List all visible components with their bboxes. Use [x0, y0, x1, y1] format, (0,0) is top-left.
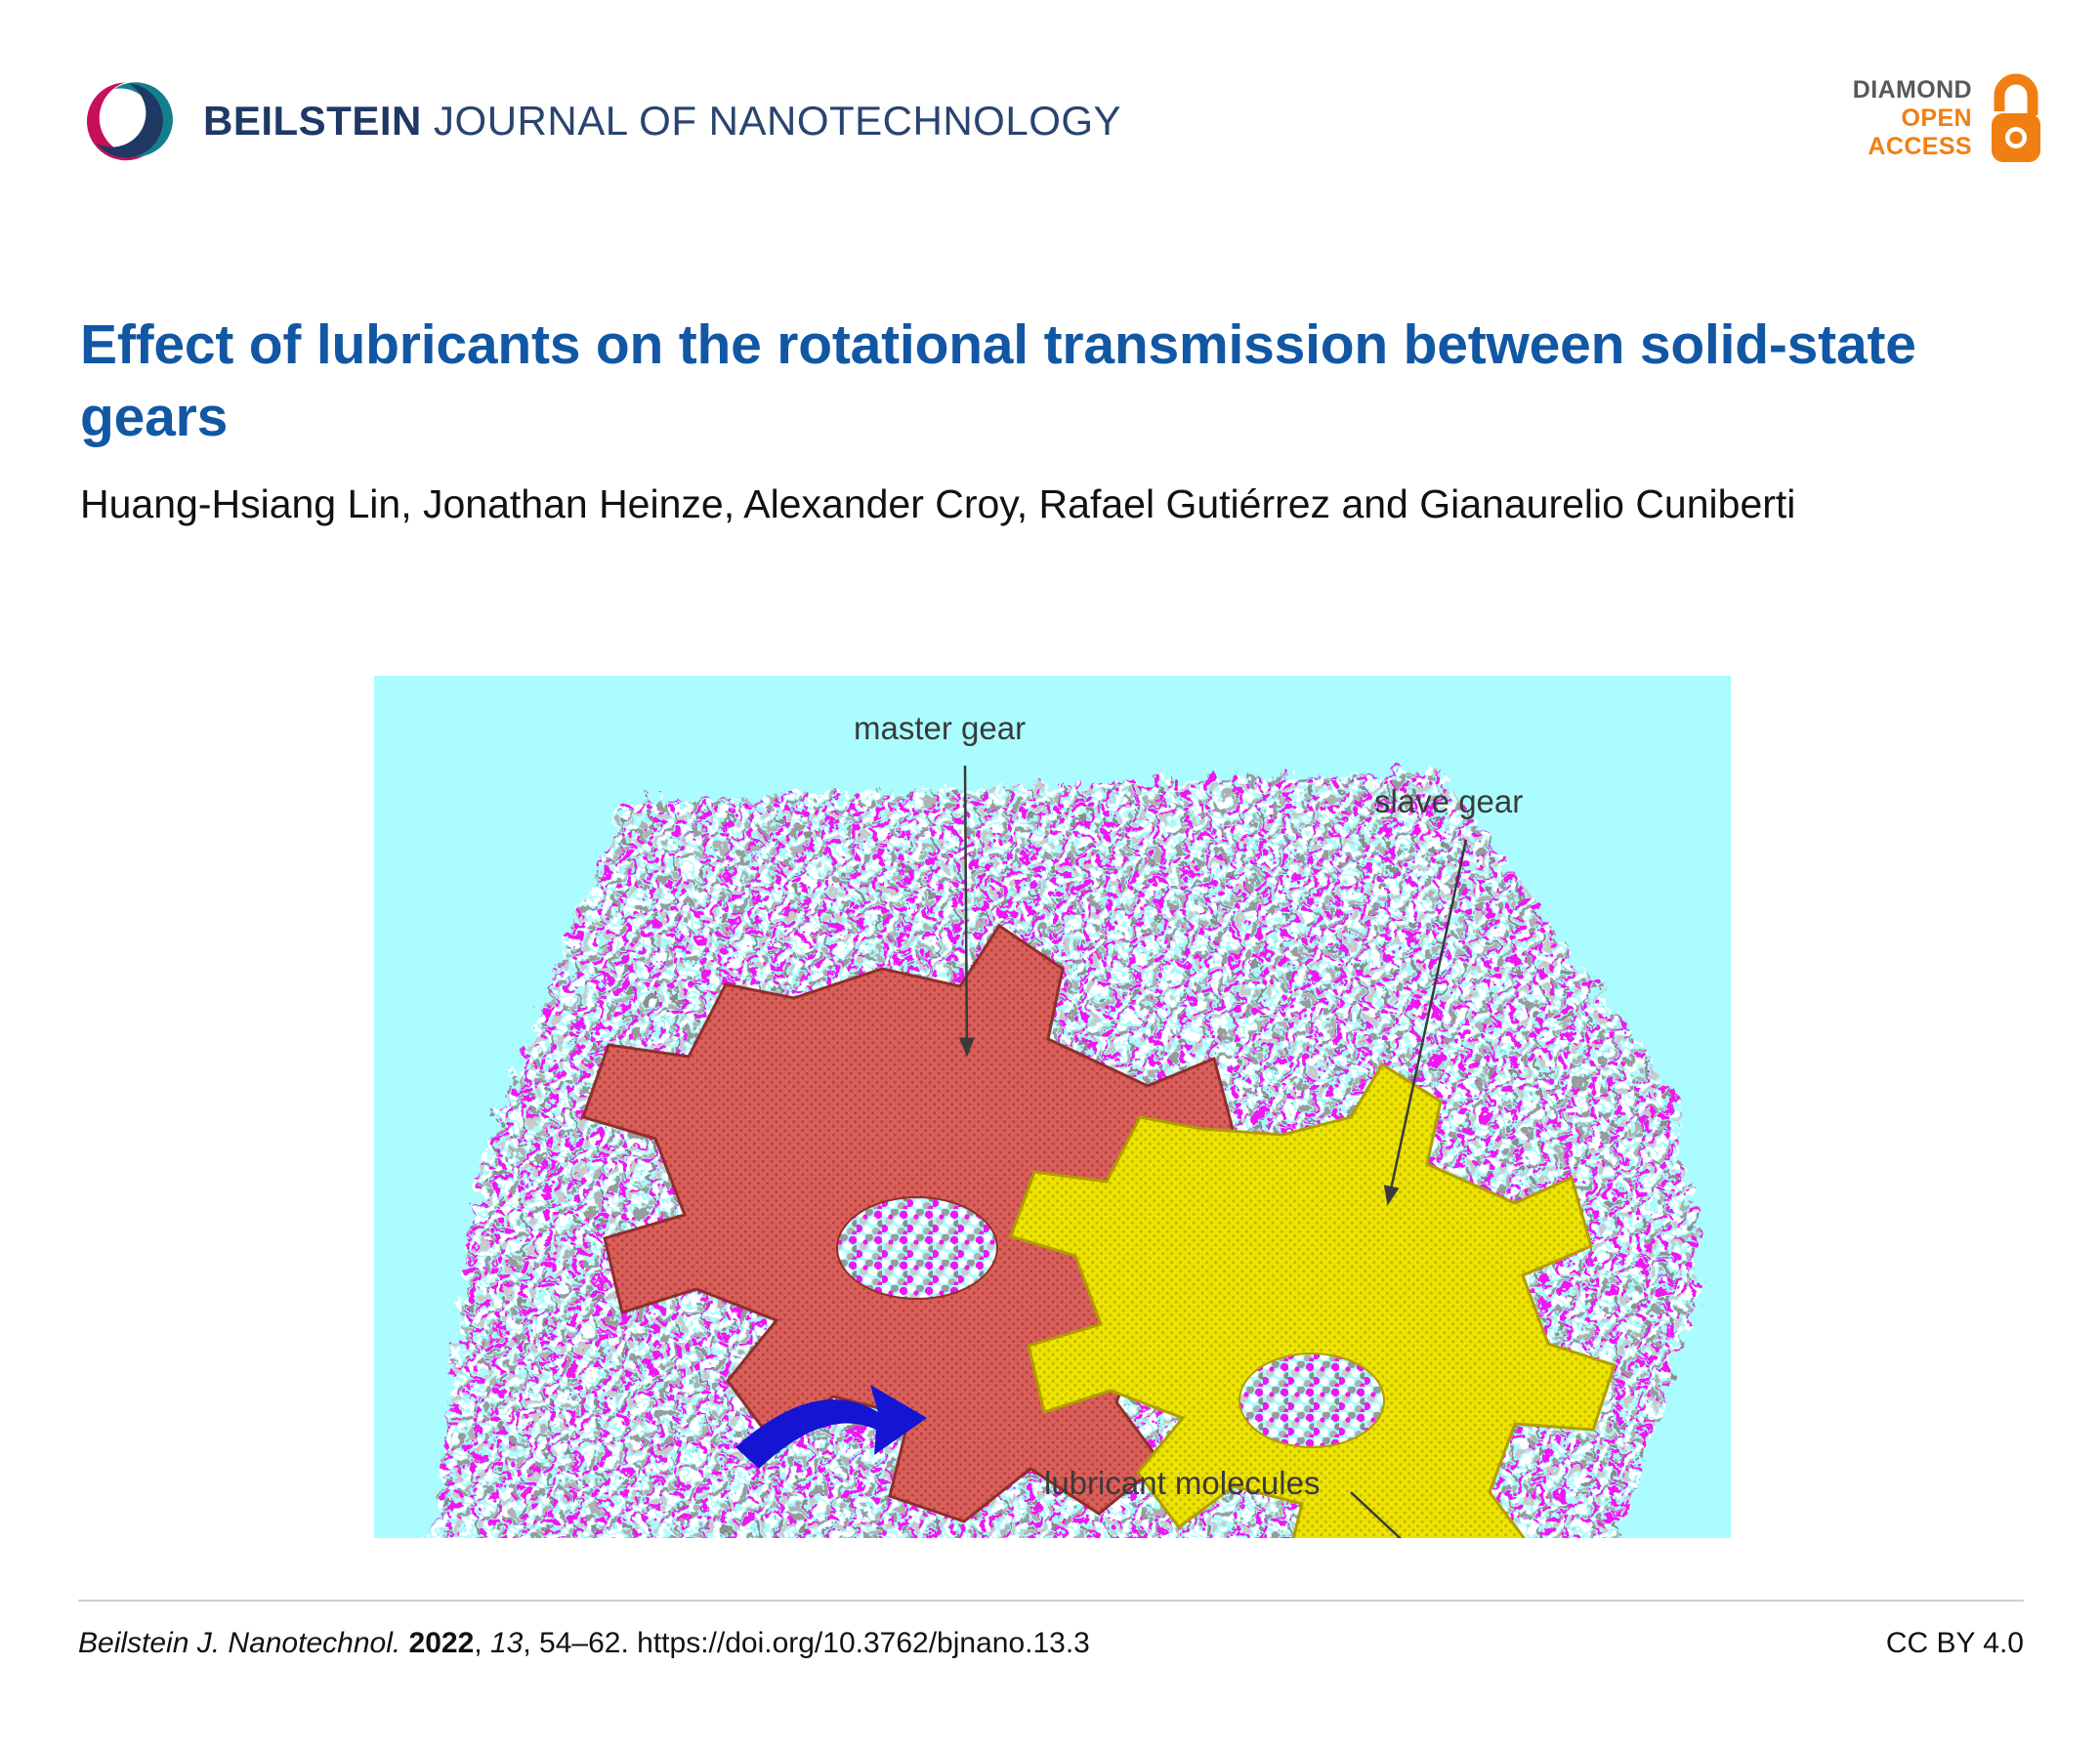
page-header: BEILSTEIN JOURNAL OF NANOTECHNOLOGY DIAM… [0, 0, 2100, 200]
citation-volume: 13 [490, 1627, 523, 1659]
citation: Beilstein J. Nanotechnol. 2022, 13, 54–6… [78, 1627, 1090, 1660]
lubricant-molecules-label: lubricant molecules [1044, 1465, 1320, 1501]
page-footer: Beilstein J. Nanotechnol. 2022, 13, 54–6… [78, 1627, 2024, 1660]
open-access-text: DIAMOND OPEN ACCESS [1853, 76, 1972, 161]
author-list: Huang-Hsiang Lin, Jonathan Heinze, Alexa… [80, 476, 1838, 532]
open-padlock-icon [1986, 72, 2046, 164]
open-access-badge: DIAMOND OPEN ACCESS [1853, 72, 2046, 164]
journal-title-light: JOURNAL OF NANOTECHNOLOGY [422, 98, 1121, 144]
beilstein-logo-icon [76, 70, 178, 172]
journal-title: BEILSTEIN JOURNAL OF NANOTECHNOLOGY [203, 101, 1121, 142]
citation-year: 2022 [409, 1627, 475, 1659]
citation-comma2: , [523, 1627, 530, 1659]
journal-brand: BEILSTEIN JOURNAL OF NANOTECHNOLOGY [76, 70, 1121, 172]
journal-title-bold: BEILSTEIN [203, 98, 422, 144]
master-gear-label: master gear [854, 710, 1026, 746]
citation-doi[interactable]: https://doi.org/10.3762/bjnano.13.3 [637, 1627, 1090, 1659]
slave-gear-label: slave gear [1374, 783, 1523, 819]
oa-access-label: ACCESS [1853, 133, 1972, 161]
graphical-abstract-figure: master gear slave gear lubricant molecul… [374, 676, 1731, 1538]
citation-pages: 54–62. [539, 1627, 629, 1659]
citation-journal: Beilstein J. Nanotechnol. [78, 1627, 400, 1659]
page-title: Effect of lubricants on the rotational t… [80, 309, 1995, 453]
oa-open-label: OPEN [1853, 104, 1972, 133]
footer-divider [78, 1600, 2024, 1602]
gear-simulation-illustration: master gear slave gear lubricant molecul… [374, 676, 1731, 1538]
citation-comma1: , [474, 1627, 482, 1659]
oa-diamond-label: DIAMOND [1853, 76, 1972, 104]
license-label: CC BY 4.0 [1886, 1627, 2024, 1660]
